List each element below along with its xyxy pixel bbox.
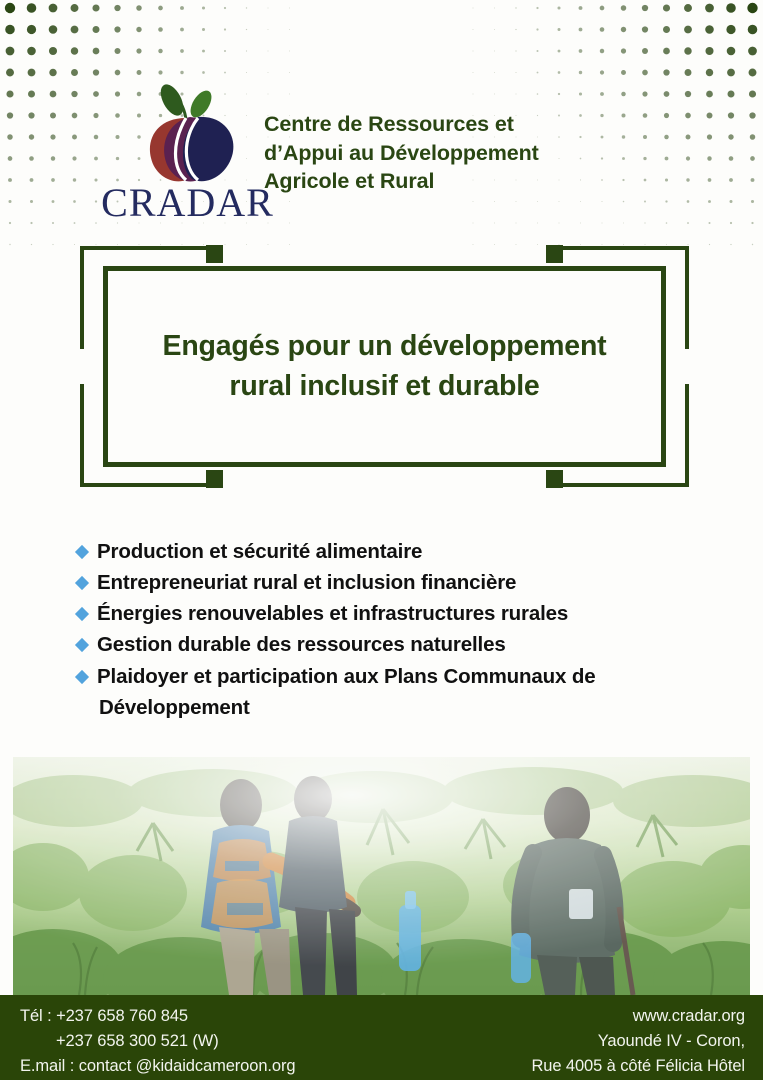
footer-website[interactable]: www.cradar.org xyxy=(531,1004,745,1029)
diamond-bullet-icon xyxy=(75,670,89,684)
header: CRADAR Centre de Ressources et d’Appui a… xyxy=(0,84,763,223)
footer-contact-right: www.cradar.org Yaoundé IV - Coron, Rue 4… xyxy=(531,1004,745,1079)
organisation-name: Centre de Ressources et d’Appui au Dével… xyxy=(264,110,539,196)
field-photograph xyxy=(13,757,750,995)
list-item: Énergies renouvelables et infrastructure… xyxy=(77,598,717,629)
footer-email[interactable]: E.mail : contact @kidaidcameroon.org xyxy=(20,1054,295,1079)
flyer-page: CRADAR Centre de Ressources et d’Appui a… xyxy=(0,0,763,1080)
list-item-label: Production et sécurité alimentaire xyxy=(97,540,422,563)
diamond-bullet-icon xyxy=(75,607,89,621)
list-item-label: Entrepreneuriat rural et inclusion finan… xyxy=(97,571,516,594)
frame-nub-bottom-left xyxy=(206,470,223,488)
organisation-name-line-1: Centre de Ressources et xyxy=(264,110,539,139)
slogan-box: Engagés pour un développement rural incl… xyxy=(103,266,666,467)
diamond-bullet-icon xyxy=(75,576,89,590)
list-item-label: Gestion durable des ressources naturelle… xyxy=(97,633,506,656)
list-item: Plaidoyer et participation aux Plans Com… xyxy=(77,661,717,723)
list-item-label: Plaidoyer et participation aux Plans Com… xyxy=(97,665,595,719)
list-item: Gestion durable des ressources naturelle… xyxy=(77,629,717,660)
slogan-line-2: rural inclusif et durable xyxy=(163,367,607,406)
footer-telephone-whatsapp[interactable]: +237 658 300 521 (W) xyxy=(20,1029,295,1054)
slogan-text: Engagés pour un développement rural incl… xyxy=(141,327,629,406)
frame-nub-top-left xyxy=(206,245,223,263)
diamond-bullet-icon xyxy=(75,638,89,652)
footer-address-line-1: Yaoundé IV - Coron, xyxy=(531,1029,745,1054)
footer-telephone-primary[interactable]: Tél : +237 658 760 845 xyxy=(20,1004,295,1029)
organisation-name-line-2: d’Appui au Développement xyxy=(264,139,539,168)
list-item: Entrepreneuriat rural et inclusion finan… xyxy=(77,567,717,598)
slogan-frame: Engagés pour un développement rural incl… xyxy=(80,246,689,487)
slogan-line-1: Engagés pour un développement xyxy=(163,327,607,366)
footer-address-line-2: Rue 4005 à côté Félicia Hôtel xyxy=(531,1054,745,1079)
list-item-label: Énergies renouvelables et infrastructure… xyxy=(97,602,568,625)
organisation-name-line-3: Agricole et Rural xyxy=(264,167,539,196)
cradar-fruit-logo-icon xyxy=(128,84,248,189)
footer-contact-left: Tél : +237 658 760 845 +237 658 300 521 … xyxy=(20,1004,295,1079)
focus-areas-list: Production et sécurité alimentaire Entre… xyxy=(77,536,717,723)
list-item: Production et sécurité alimentaire xyxy=(77,536,717,567)
frame-nub-bottom-right xyxy=(546,470,563,488)
footer-contact-bar: Tél : +237 658 760 845 +237 658 300 521 … xyxy=(0,995,763,1080)
cradar-wordmark: CRADAR xyxy=(95,183,280,223)
diamond-bullet-icon xyxy=(75,545,89,559)
frame-nub-top-right xyxy=(546,245,563,263)
logo: CRADAR xyxy=(95,84,280,223)
